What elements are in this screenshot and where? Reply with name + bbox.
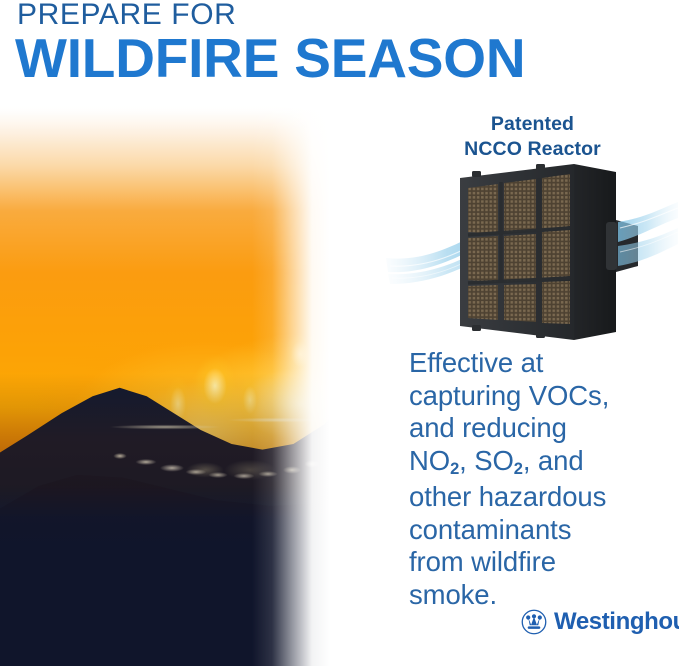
body-line-5: other hazardous [409,481,677,514]
product-title: Patented NCCO Reactor [386,112,679,162]
body-copy: Effective at capturing VOCs, and reducin… [409,347,677,611]
ad-creative-canvas: PREPARE FOR WILDFIRE SEASON [0,0,679,666]
chemical-suffix: , and [523,445,584,476]
wildfire-photo [0,104,386,666]
ncco-reactor-illustration [384,162,679,342]
body-line-1: Effective at [409,347,677,380]
reactor-body [460,164,638,340]
chemical-middle: , SO [459,445,514,476]
body-line-7: from wildfire [409,546,677,579]
photo-top-fade [0,104,386,666]
so2-subscript: 2 [514,460,523,478]
no2-prefix: NO [409,445,450,476]
body-line-6: contaminants [409,514,677,547]
headline-text: WILDFIRE SEASON [15,26,525,90]
westinghouse-w-crown-circle-icon [521,609,547,635]
right-column: Patented NCCO Reactor [386,104,679,666]
body-line-3: and reducing [409,412,677,445]
airflow-streams-right [618,202,678,266]
reactor-cell-grid [468,174,570,324]
ncco-reactor-svg [384,162,679,342]
brand-wordmark: Westinghouse [554,610,679,634]
header: PREPARE FOR WILDFIRE SEASON [0,0,679,104]
body-line-chemicals: NO2, SO2, and [409,445,677,482]
no2-subscript: 2 [450,460,459,478]
brand-lockup: Westinghouse [521,609,679,635]
product-title-line-2: NCCO Reactor [386,137,679,162]
body-line-2: capturing VOCs, [409,380,677,413]
product-title-line-1: Patented [386,112,679,137]
body-line-8: smoke. [409,579,677,612]
